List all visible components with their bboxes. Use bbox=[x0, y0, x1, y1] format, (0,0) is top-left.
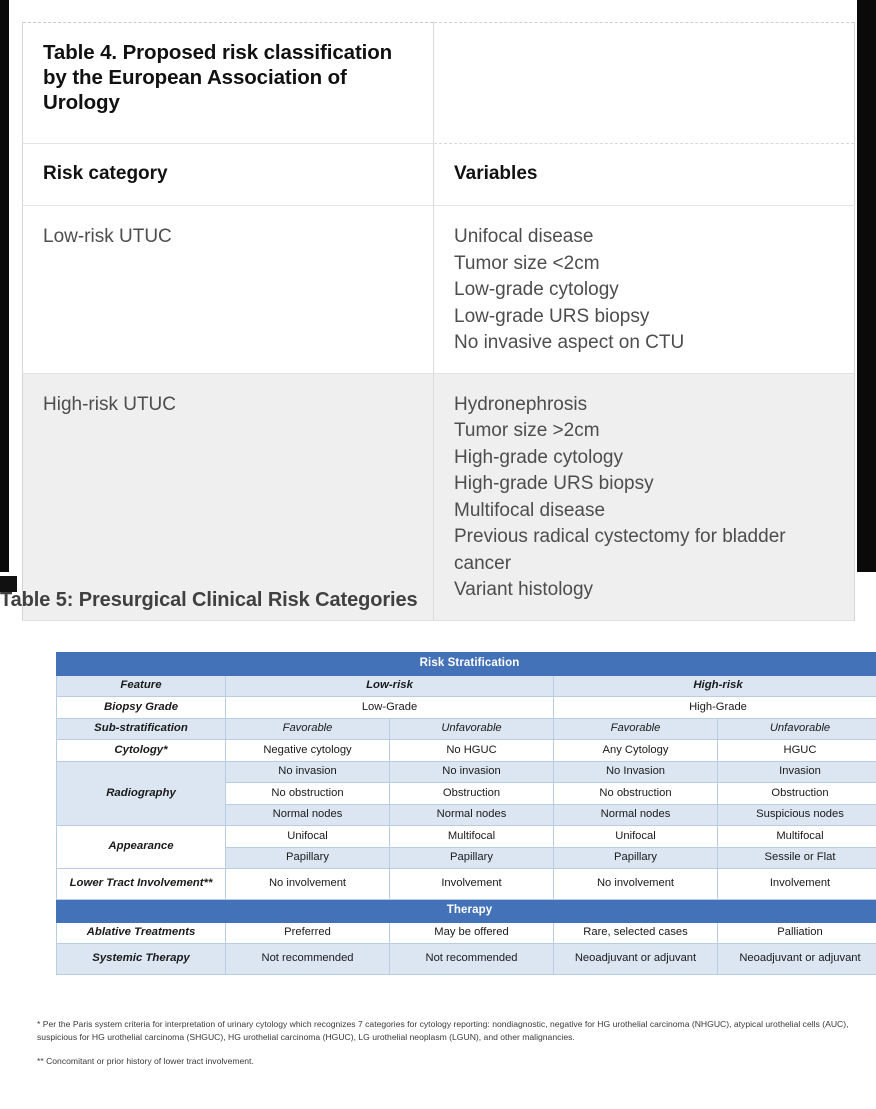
table-5-cell-appearance2-high-unfavorable: Sessile or Flat bbox=[718, 847, 876, 869]
table-5-cell-appearance1-low-favorable: Unifocal bbox=[226, 826, 390, 848]
table-5-cell-appearance2-low-favorable: Papillary bbox=[226, 847, 390, 869]
table-5-cell-biopsy-grade-high: High-Grade bbox=[554, 697, 876, 719]
table-5-band-risk-stratification: Risk Stratification bbox=[57, 653, 876, 676]
list-item: High-grade URS biopsy bbox=[454, 471, 838, 498]
table-5-band-risk-stratification-row: Risk Stratification bbox=[57, 653, 876, 676]
table-4-title-spacer bbox=[434, 23, 855, 144]
table-5-row-ablative-treatments: Ablative Treatments Preferred May be off… bbox=[57, 922, 876, 944]
table-5-band-therapy: Therapy bbox=[57, 900, 876, 923]
table-5-row-radiography-1: Radiography No invasion No invasion No I… bbox=[57, 761, 876, 783]
table-5-rowlabel-cytology: Cytology* bbox=[57, 740, 226, 762]
table-4-caption: Table 4. Proposed risk classification by… bbox=[23, 23, 434, 144]
table-5-cell-cytology-high-favorable: Any Cytology bbox=[554, 740, 718, 762]
table-5-cell-systemic-low-unfavorable: Not recommended bbox=[390, 944, 554, 975]
table-4: Table 4. Proposed risk classification by… bbox=[22, 22, 854, 565]
list-item: Unifocal disease bbox=[454, 224, 838, 251]
table-5-cell-biopsy-grade-low: Low-Grade bbox=[226, 697, 554, 719]
table-5-cell-ablative-low-favorable: Preferred bbox=[226, 922, 390, 944]
table-5-col-header-feature: Feature bbox=[57, 675, 226, 697]
list-item: Low-grade cytology bbox=[454, 277, 838, 304]
table-5-rowlabel-ablative-treatments: Ablative Treatments bbox=[57, 922, 226, 944]
table-5-cell-ablative-high-favorable: Rare, selected cases bbox=[554, 922, 718, 944]
table-5-rowlabel-radiography: Radiography bbox=[57, 761, 226, 826]
table-5-cell-systemic-low-favorable: Not recommended bbox=[226, 944, 390, 975]
footnote-lower-tract-double-asterisk: ** Concomitant or prior history of lower… bbox=[37, 1055, 849, 1068]
table-5-cell-appearance2-low-unfavorable: Papillary bbox=[390, 847, 554, 869]
table-4-title-row: Table 4. Proposed risk classification by… bbox=[23, 23, 855, 144]
list-item: High-grade cytology bbox=[454, 445, 838, 472]
table-5-cell-cytology-high-unfavorable: HGUC bbox=[718, 740, 876, 762]
table-5-header-row: Feature Low-risk High-risk bbox=[57, 675, 876, 697]
table-4-variable-list-low: Unifocal disease Tumor size <2cm Low-gra… bbox=[454, 224, 838, 357]
table-5-row-sub-stratification: Sub-stratification Favorable Unfavorable… bbox=[57, 718, 876, 740]
table-5-cell-radio3-low-favorable: Normal nodes bbox=[226, 804, 390, 826]
list-item: Previous radical cystectomy for bladder … bbox=[454, 524, 838, 577]
table-5-cell-systemic-high-unfavorable: Neoadjuvant or adjuvant bbox=[718, 944, 876, 975]
table-4-category-high-risk: High-risk UTUC bbox=[23, 373, 434, 620]
scan-edge-band-left bbox=[0, 0, 9, 572]
table-5-row-systemic-therapy: Systemic Therapy Not recommended Not rec… bbox=[57, 944, 876, 975]
table-5-cell-radio3-low-unfavorable: Normal nodes bbox=[390, 804, 554, 826]
table-4-variables-low-risk: Unifocal disease Tumor size <2cm Low-gra… bbox=[434, 206, 855, 374]
table-5-cell-substrat-high-favorable: Favorable bbox=[554, 718, 718, 740]
table-5-cell-radio2-high-favorable: No obstruction bbox=[554, 783, 718, 805]
table-4-row-low-risk: Low-risk UTUC Unifocal disease Tumor siz… bbox=[23, 206, 855, 374]
table-5-cell-radio2-high-unfavorable: Obstruction bbox=[718, 783, 876, 805]
table-5-cell-substrat-low-unfavorable: Unfavorable bbox=[390, 718, 554, 740]
table-4-row-high-risk: High-risk UTUC Hydronephrosis Tumor size… bbox=[23, 373, 855, 620]
table-5-cell-radio1-low-unfavorable: No invasion bbox=[390, 761, 554, 783]
table-5-cell-appearance2-high-favorable: Papillary bbox=[554, 847, 718, 869]
table-5-cell-radio1-high-favorable: No Invasion bbox=[554, 761, 718, 783]
table-5-cell-lower-high-unfavorable: Involvement bbox=[718, 869, 876, 900]
list-item: Multifocal disease bbox=[454, 498, 838, 525]
table-5-cell-ablative-high-unfavorable: Palliation bbox=[718, 922, 876, 944]
table-5-col-header-high-risk: High-risk bbox=[554, 675, 876, 697]
table-5-cell-radio3-high-unfavorable: Suspicious nodes bbox=[718, 804, 876, 826]
table-5-row-appearance-1: Appearance Unifocal Multifocal Unifocal … bbox=[57, 826, 876, 848]
table-4-col-header-variables: Variables bbox=[434, 144, 855, 206]
table-5-rowlabel-systemic-therapy: Systemic Therapy bbox=[57, 944, 226, 975]
table-5-rowlabel-appearance: Appearance bbox=[57, 826, 226, 869]
list-item: Low-grade URS biopsy bbox=[454, 304, 838, 331]
list-item: Tumor size >2cm bbox=[454, 418, 838, 445]
table-5-row-cytology: Cytology* Negative cytology No HGUC Any … bbox=[57, 740, 876, 762]
table-5-cell-radio2-low-favorable: No obstruction bbox=[226, 783, 390, 805]
table-5-band-therapy-row: Therapy bbox=[57, 900, 876, 923]
table-4-header-row: Risk category Variables bbox=[23, 144, 855, 206]
table-5-cell-radio1-low-favorable: No invasion bbox=[226, 761, 390, 783]
list-item: Hydronephrosis bbox=[454, 392, 838, 419]
table-5-rowlabel-sub-stratification: Sub-stratification bbox=[57, 718, 226, 740]
table-4-category-low-risk: Low-risk UTUC bbox=[23, 206, 434, 374]
table-5-cell-ablative-low-unfavorable: May be offered bbox=[390, 922, 554, 944]
table-4-grid: Table 4. Proposed risk classification by… bbox=[22, 22, 855, 621]
table-5-cell-cytology-low-unfavorable: No HGUC bbox=[390, 740, 554, 762]
table-5-cell-substrat-high-unfavorable: Unfavorable bbox=[718, 718, 876, 740]
table-5-cell-lower-high-favorable: No involvement bbox=[554, 869, 718, 900]
table-5-cell-lower-low-favorable: No involvement bbox=[226, 869, 390, 900]
table-5-cell-appearance1-high-unfavorable: Multifocal bbox=[718, 826, 876, 848]
table-5-cell-systemic-high-favorable: Neoadjuvant or adjuvant bbox=[554, 944, 718, 975]
table-5-cell-appearance1-high-favorable: Unifocal bbox=[554, 826, 718, 848]
table-5-grid: Risk Stratification Feature Low-risk Hig… bbox=[56, 652, 876, 975]
table-4-variable-list-high: Hydronephrosis Tumor size >2cm High-grad… bbox=[454, 392, 838, 604]
table-4-col-header-risk-category: Risk category bbox=[23, 144, 434, 206]
table-5-cell-appearance1-low-unfavorable: Multifocal bbox=[390, 826, 554, 848]
list-item: Tumor size <2cm bbox=[454, 251, 838, 278]
list-item: No invasive aspect on CTU bbox=[454, 330, 838, 357]
document-page: Table 4. Proposed risk classification by… bbox=[0, 0, 876, 1109]
table-5: Risk Stratification Feature Low-risk Hig… bbox=[56, 652, 876, 975]
table-5-cell-radio2-low-unfavorable: Obstruction bbox=[390, 783, 554, 805]
table-5-cell-radio3-high-favorable: Normal nodes bbox=[554, 804, 718, 826]
table-5-cell-lower-low-unfavorable: Involvement bbox=[390, 869, 554, 900]
footnote-cytology-asterisk: * Per the Paris system criteria for inte… bbox=[37, 1018, 849, 1043]
table-5-cell-substrat-low-favorable: Favorable bbox=[226, 718, 390, 740]
table-5-row-lower-tract-involvement: Lower Tract Involvement** No involvement… bbox=[57, 869, 876, 900]
table-5-cell-radio1-high-unfavorable: Invasion bbox=[718, 761, 876, 783]
table-5-cell-cytology-low-favorable: Negative cytology bbox=[226, 740, 390, 762]
table-5-row-biopsy-grade: Biopsy Grade Low-Grade High-Grade bbox=[57, 697, 876, 719]
table-4-variables-high-risk: Hydronephrosis Tumor size >2cm High-grad… bbox=[434, 373, 855, 620]
table-5-rowlabel-lower-tract-involvement: Lower Tract Involvement** bbox=[57, 869, 226, 900]
table-5-caption: Table 5: Presurgical Clinical Risk Categ… bbox=[0, 589, 700, 612]
table-5-rowlabel-biopsy-grade: Biopsy Grade bbox=[57, 697, 226, 719]
table-5-footnotes: * Per the Paris system criteria for inte… bbox=[37, 1018, 849, 1080]
table-5-col-header-low-risk: Low-risk bbox=[226, 675, 554, 697]
scan-edge-band-right bbox=[857, 0, 876, 572]
